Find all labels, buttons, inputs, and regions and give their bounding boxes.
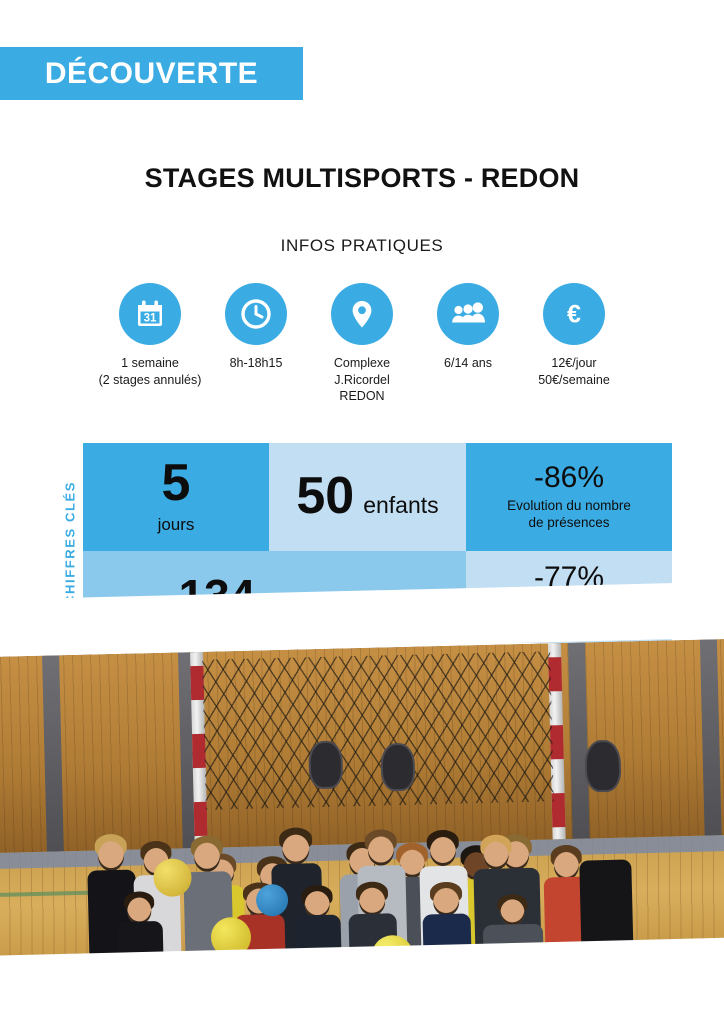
info-item-duration-label: 1 semaine (2 stages annulés)	[99, 355, 202, 388]
page-subtitle: INFOS PRATIQUES	[0, 236, 724, 256]
stat-days-value: 5	[162, 459, 191, 508]
group-photo-content	[0, 639, 724, 987]
goal-net	[202, 651, 554, 809]
svg-text:31: 31	[144, 313, 157, 325]
location-pin-icon	[331, 283, 393, 345]
info-item-hours: 8h-18h15	[204, 283, 308, 372]
info-item-duration: 31 1 semaine (2 stages annulés)	[98, 283, 202, 388]
info-item-ages: 6/14 ans	[416, 283, 520, 372]
discover-banner-label: DÉCOUVERTE	[45, 59, 258, 89]
stat-attendance-evolution-description: Evolution du nombre de présences	[507, 497, 631, 532]
euro-icon: €	[543, 283, 605, 345]
clock-icon	[225, 283, 287, 345]
info-item-location-label: Complexe J.Ricordel REDON	[334, 355, 390, 405]
people-group-icon	[437, 283, 499, 345]
fencing-mask	[584, 740, 621, 793]
practical-info-row: 31 1 semaine (2 stages annulés) 8h-18h15…	[98, 283, 626, 405]
info-item-price-label: 12€/jour 50€/semaine	[538, 355, 610, 388]
stat-children-value: 50	[296, 472, 354, 521]
info-item-price: € 12€/jour 50€/semaine	[522, 283, 626, 388]
info-item-hours-label: 8h-18h15	[230, 355, 283, 372]
fencing-mask	[308, 740, 343, 789]
stat-attendance-evolution-value: -86%	[534, 462, 604, 494]
discover-banner: DÉCOUVERTE	[0, 47, 303, 100]
calendar-icon: 31	[119, 283, 181, 345]
stat-days-unit: jours	[158, 515, 195, 535]
stat-cell-children: 50 enfants	[269, 443, 466, 551]
svg-text:€: €	[567, 301, 581, 329]
page-title: STAGES MULTISPORTS - REDON	[0, 163, 724, 194]
stat-children-unit: enfants	[363, 492, 438, 519]
fencing-mask	[380, 743, 415, 792]
group-photo	[0, 639, 724, 987]
stat-cell-attendance-evolution: -86% Evolution du nombre de présences	[466, 443, 672, 551]
info-item-location: Complexe J.Ricordel REDON	[310, 283, 414, 405]
photo-bottom-edge	[0, 937, 724, 1036]
stat-cell-days: 5 jours	[83, 443, 269, 551]
info-item-ages-label: 6/14 ans	[444, 355, 492, 372]
